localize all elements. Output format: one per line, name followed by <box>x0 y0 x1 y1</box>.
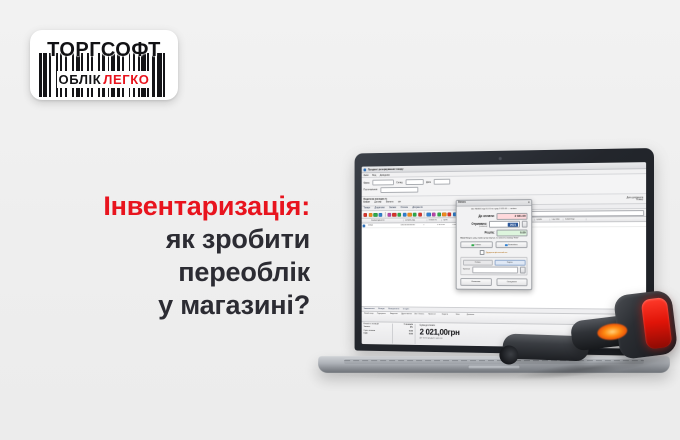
logo-bottom-words: ОБЛІКЛЕГКО <box>39 71 169 89</box>
headline: Інвентаризація: як зробити переоблік у м… <box>28 190 310 322</box>
toolbar-icon[interactable] <box>397 213 401 217</box>
toolbar-icon[interactable] <box>374 213 378 217</box>
grid-column-header[interactable]: Кількість <box>427 220 442 222</box>
function-button[interactable]: Допомога <box>465 314 476 316</box>
bottom-tab[interactable]: Історія <box>403 308 409 310</box>
filter-label: Склад <box>396 181 402 184</box>
row-marker-icon <box>363 224 366 227</box>
headline-line-2: як зробити <box>28 223 310 256</box>
summary-labels: Кількість позиційЗнижкаСума знижкиПДВ <box>363 323 390 343</box>
toolbar-icon[interactable] <box>403 212 407 216</box>
toolbar-icon[interactable] <box>387 213 391 217</box>
dialog-note-title: Увага! <box>460 238 465 240</box>
table-cell: 1 <box>422 224 436 226</box>
payment-field-input[interactable]: 0.00 <box>497 229 528 236</box>
close-icon[interactable]: ✕ <box>528 201 530 204</box>
dialog-note: Увага! Введіть суму, отриману від покупц… <box>460 238 527 241</box>
toolbar-separator <box>384 212 385 217</box>
summary-values: 1 позиція0%0.000.00 <box>392 324 415 344</box>
doc-right-note-2: Номер <box>627 199 644 201</box>
function-button-label: Допомога <box>465 314 476 316</box>
currency-value: грн <box>398 201 401 203</box>
toolbar-icon[interactable] <box>432 212 436 216</box>
menu-item[interactable]: Файл <box>363 174 368 177</box>
document-tab[interactable]: Товари <box>363 208 370 210</box>
payment-method-label: Безготівка <box>508 244 517 246</box>
menu-item[interactable]: Вид <box>372 174 376 177</box>
grid-column-header[interactable]: Найменування <box>370 220 404 222</box>
table-cell: Товар <box>366 225 399 227</box>
scanner-handle-end <box>499 345 519 365</box>
filter-input[interactable] <box>434 179 450 185</box>
checkbox-box[interactable] <box>480 251 484 255</box>
function-button[interactable]: Видалити <box>388 313 399 315</box>
payment-method-button[interactable]: Безготівка <box>495 242 527 249</box>
document-tab[interactable]: Оплата <box>401 207 408 209</box>
fiscal-receipt-checkbox[interactable]: Друкувати фіскальний чек <box>460 251 527 255</box>
bottom-tab[interactable]: Резерв <box>378 308 384 310</box>
doc-label: Видаткова накладна № <box>363 198 387 200</box>
toolbar-icon[interactable] <box>363 213 367 217</box>
terminal-tab[interactable]: Готівка <box>463 259 493 265</box>
filter-input[interactable] <box>372 179 393 185</box>
function-button[interactable]: Новий товар <box>363 313 374 315</box>
payment-field-input[interactable]: 2 021.00 <box>497 212 528 219</box>
grid-column-header[interactable]: Група <box>535 219 550 221</box>
document-tab[interactable]: Знижки <box>389 207 396 209</box>
payment-fields[interactable]: До оплати:2 021.00Отримано:(готівкою)202… <box>460 212 527 236</box>
summary-label: ПДВ <box>363 333 390 337</box>
payment-field-row[interactable]: До оплати:2 021.00 <box>460 212 527 219</box>
dialog-title: Оплата <box>458 202 466 204</box>
filter-input[interactable] <box>380 186 418 192</box>
dialog-footer[interactable]: ОплатитиСкасувати <box>457 278 532 288</box>
chevron-down-icon[interactable] <box>522 221 528 228</box>
function-button-label: Редагувати <box>376 313 387 315</box>
toolbar-icon[interactable] <box>437 212 441 216</box>
laptop-device: Продаж і резервування товару ФайлВидДові… <box>318 148 670 383</box>
grid-column-header[interactable]: Штрих-код <box>404 220 428 222</box>
filter-input[interactable] <box>405 179 423 185</box>
function-button[interactable]: Звіти <box>452 314 463 316</box>
payment-method-icon <box>505 244 507 246</box>
terminal-tab[interactable]: Картка <box>495 259 525 265</box>
grid-column-header[interactable]: Од. вим. <box>550 219 563 221</box>
function-button-label: Видалити <box>388 313 399 315</box>
document-tab[interactable]: Документи <box>412 207 422 209</box>
toolbar-icon[interactable] <box>392 213 396 217</box>
payment-method-label: Готівка <box>475 244 481 246</box>
payment-method-button[interactable]: Готівка <box>460 242 492 249</box>
dialog-footer-button[interactable]: Скасувати <box>496 279 527 286</box>
toolbar-icon[interactable] <box>413 212 417 216</box>
payment-method-buttons[interactable]: ГотівкаБезготівка <box>460 242 527 249</box>
app-window-title: Продаж і резервування товару <box>368 167 403 170</box>
torgsoft-logo: ТОРГСОФТ ОБЛІКЛЕГКО <box>30 30 178 100</box>
summary-value: 0.00 <box>394 333 414 337</box>
payment-field-input[interactable]: 2021 <box>489 221 520 228</box>
function-button-label: Друк етикеток <box>401 313 412 315</box>
app-icon <box>363 168 366 171</box>
poster-canvas: ТОРГСОФТ ОБЛІКЛЕГКО Інвентаризація: як з… <box>0 0 680 440</box>
payment-dialog[interactable]: Оплата ✕ Чек №0001 від 01.01 на суму 2 0… <box>456 199 532 290</box>
dialog-note-text: Введіть суму, отриману від покупця, та н… <box>466 238 519 240</box>
bottom-tab[interactable]: Повернення <box>388 308 399 310</box>
function-button-label: Новий товар <box>363 313 374 315</box>
client-label: Клієнт <box>363 201 369 203</box>
total-in-words: Дві тисячі двадцять одна грн <box>420 337 443 339</box>
terminal-tabs[interactable]: ГотівкаКартка <box>463 259 525 265</box>
terminal-section[interactable]: ГотівкаКартка Термінал <box>460 257 527 276</box>
payment-field-label: Решта: <box>485 231 495 235</box>
toolbar-icon[interactable] <box>418 212 422 216</box>
checkbox-label: Друкувати фіскальний чек <box>486 252 507 254</box>
function-button-label: Провести <box>426 313 437 315</box>
table-cell: 4820000000000 <box>399 225 422 227</box>
payment-field-row[interactable]: Решта:0.00 <box>460 229 527 236</box>
headline-line-3: переоблік <box>28 256 310 289</box>
document-tab[interactable]: Додатково <box>375 208 385 210</box>
payment-field-label: До оплати: <box>478 214 494 218</box>
logo-word-legko: ЛЕГКО <box>102 71 150 88</box>
function-button[interactable]: Друк етикеток <box>401 313 412 315</box>
toolbar-icon[interactable] <box>408 212 412 216</box>
bottom-tab[interactable]: Замовлення <box>363 308 374 310</box>
webcam-icon <box>498 157 502 161</box>
chevron-down-icon[interactable] <box>519 267 525 274</box>
function-button[interactable]: Чек / Оплата <box>414 313 425 315</box>
headline-line-4: у магазині? <box>28 289 310 322</box>
function-button-label: Чек / Оплата <box>414 313 425 315</box>
filter-label: Фірма <box>363 181 369 184</box>
payment-field-value: 2021 <box>508 222 518 226</box>
contract-label: Договір <box>374 201 381 203</box>
logo-word-oblik: ОБЛІК <box>57 71 102 88</box>
function-button-label: Закрити <box>439 314 450 316</box>
menu-item[interactable]: Довідники <box>380 173 390 176</box>
terminal-field-input[interactable] <box>472 267 518 273</box>
filter-label: Дата <box>426 180 431 183</box>
terminal-field-label: Термінал <box>463 269 470 271</box>
payment-field-sublabel: (готівкою) <box>471 225 487 227</box>
toolbar-icon[interactable] <box>448 212 452 216</box>
toolbar-icon[interactable] <box>369 213 373 217</box>
function-button[interactable]: Закрити <box>439 314 450 316</box>
toolbar-icon[interactable] <box>427 212 431 216</box>
function-button[interactable]: Провести <box>426 313 437 315</box>
toolbar-search-input[interactable] <box>525 210 644 217</box>
payment-field-row[interactable]: Отримано:(готівкою)2021 <box>460 221 527 228</box>
payment-method-icon <box>472 244 474 246</box>
currency-label: Валюта <box>386 201 393 203</box>
toolbar-separator <box>424 212 425 217</box>
filter-label: Постачальник <box>363 188 377 191</box>
grid-column-header[interactable]: Коментар <box>564 219 587 221</box>
dialog-footer-button[interactable]: Оплатити <box>460 279 491 286</box>
function-button-label: Звіти <box>452 314 463 316</box>
toolbar-icon[interactable] <box>442 212 446 216</box>
table-cell: 2 021.00 <box>436 224 452 226</box>
toolbar-icon[interactable] <box>379 213 383 217</box>
function-button[interactable]: Редагувати <box>376 313 387 315</box>
logo-top-word: ТОРГСОФТ <box>39 37 169 63</box>
headline-line-1: Інвентаризація: <box>28 190 310 223</box>
